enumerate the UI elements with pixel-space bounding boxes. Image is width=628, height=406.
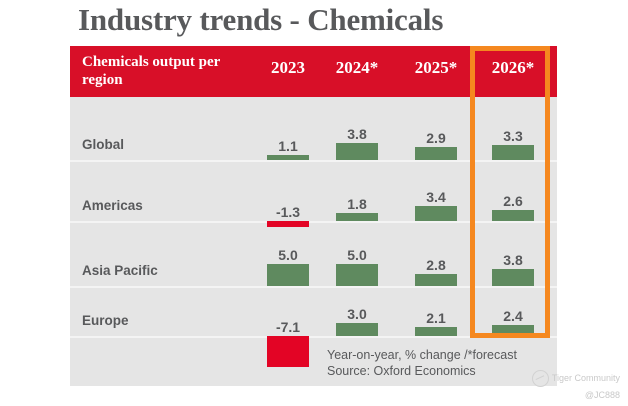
positive-bar bbox=[336, 323, 378, 336]
watermark-handle: @JC888 bbox=[500, 388, 620, 402]
tiger-logo-icon bbox=[532, 370, 549, 387]
table-row: Europe-7.13.02.12.4 bbox=[70, 288, 557, 338]
cell-value: 3.0 bbox=[322, 306, 392, 322]
data-cell: 2.4 bbox=[478, 286, 548, 336]
cell-value: 2.6 bbox=[478, 193, 548, 209]
positive-bar bbox=[415, 147, 457, 160]
cell-value: 3.4 bbox=[401, 189, 471, 205]
data-cell: 3.3 bbox=[478, 95, 548, 160]
positive-bar bbox=[415, 274, 457, 286]
positive-bar bbox=[415, 327, 457, 336]
cell-value: 5.0 bbox=[253, 247, 323, 263]
positive-bar bbox=[492, 145, 534, 160]
positive-bar bbox=[415, 206, 457, 221]
data-cell: 3.8 bbox=[478, 221, 548, 286]
positive-bar bbox=[336, 264, 378, 286]
data-cell: -7.1 bbox=[253, 286, 323, 336]
row-label-asia-pacific: Asia Pacific bbox=[82, 263, 158, 278]
table-header-label: Chemicals output per region bbox=[82, 53, 262, 89]
row-label-europe: Europe bbox=[82, 313, 129, 328]
table-row: Americas-1.31.83.42.6 bbox=[70, 162, 557, 223]
watermark: Tiger Community @JC888 bbox=[500, 370, 620, 402]
positive-bar bbox=[267, 264, 309, 286]
data-cell: 2.9 bbox=[401, 95, 471, 160]
cell-value: 3.8 bbox=[478, 252, 548, 268]
positive-bar bbox=[492, 325, 534, 336]
data-cell: 3.0 bbox=[322, 286, 392, 336]
cell-value: 1.1 bbox=[253, 138, 323, 154]
positive-bar bbox=[492, 269, 534, 286]
data-cell: 2.8 bbox=[401, 221, 471, 286]
cell-value: 2.8 bbox=[401, 257, 471, 273]
row-label-americas: Americas bbox=[82, 198, 143, 213]
cell-value: 1.8 bbox=[322, 196, 392, 212]
cell-value: 5.0 bbox=[322, 247, 392, 263]
column-header-2023: 2023 bbox=[271, 58, 305, 78]
table-row: Global1.13.82.93.3 bbox=[70, 97, 557, 162]
cell-value: -1.3 bbox=[253, 204, 323, 220]
positive-bar bbox=[492, 210, 534, 221]
data-cell: 3.8 bbox=[322, 95, 392, 160]
table-row: Asia Pacific5.05.02.83.8 bbox=[70, 223, 557, 288]
data-cell: 1.8 bbox=[322, 160, 392, 221]
cell-value: 2.9 bbox=[401, 130, 471, 146]
positive-bar bbox=[336, 213, 378, 221]
column-header-2026-forecast: 2026* bbox=[492, 58, 535, 78]
footnote-line-2: Source: Oxford Economics bbox=[327, 363, 517, 379]
row-label-global: Global bbox=[82, 137, 124, 152]
positive-bar bbox=[336, 143, 378, 160]
table-header-row: Chemicals output per region 20232024*202… bbox=[70, 46, 557, 97]
column-header-2025-forecast: 2025* bbox=[415, 58, 458, 78]
data-cell: 1.1 bbox=[253, 95, 323, 160]
data-cell: 5.0 bbox=[322, 221, 392, 286]
footnote-line-1: Year-on-year, % change /*forecast bbox=[327, 347, 517, 363]
watermark-brand-line: Tiger Community bbox=[500, 370, 620, 387]
cell-value: -7.1 bbox=[253, 319, 323, 335]
data-cell: 2.1 bbox=[401, 286, 471, 336]
cell-value: 2.1 bbox=[401, 310, 471, 326]
data-cell: 5.0 bbox=[253, 221, 323, 286]
cell-value: 3.8 bbox=[322, 126, 392, 142]
watermark-brand-text: Tiger Community bbox=[552, 373, 620, 383]
footnote: Year-on-year, % change /*forecast Source… bbox=[327, 347, 517, 379]
data-cell: 3.4 bbox=[401, 160, 471, 221]
industry-trends-table: Chemicals output per region 20232024*202… bbox=[70, 46, 557, 386]
data-cell: 2.6 bbox=[478, 160, 548, 221]
data-cell: -1.3 bbox=[253, 160, 323, 221]
column-header-2024-forecast: 2024* bbox=[336, 58, 379, 78]
cell-value: 3.3 bbox=[478, 128, 548, 144]
cell-value: 2.4 bbox=[478, 308, 548, 324]
table-footer: Year-on-year, % change /*forecast Source… bbox=[70, 339, 557, 386]
page-title: Industry trends - Chemicals bbox=[78, 2, 443, 38]
